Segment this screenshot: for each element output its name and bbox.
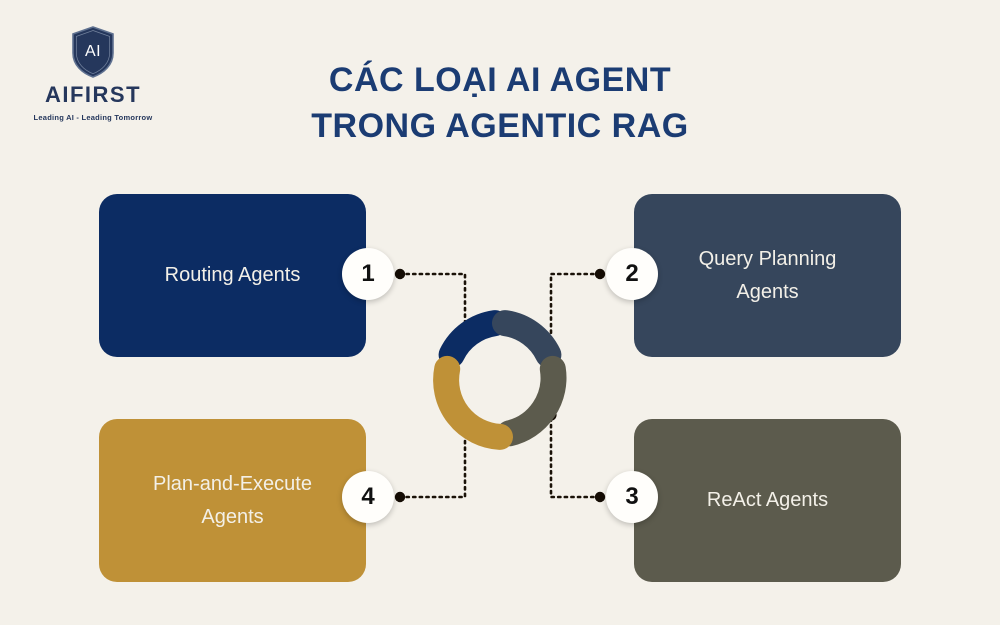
card-routing-agents[interactable]: Routing Agents [99,194,366,357]
donut-diagram [425,305,575,455]
logo-wordmark: AIFIRST [45,82,141,108]
card-plan-and-execute-agents-label: Plan-and-Execute Agents [145,468,320,534]
badge-number-3[interactable]: 3 [606,471,658,523]
connector-dot-badge-1 [395,269,405,279]
badge-number-2[interactable]: 2 [606,248,658,300]
badge-number-1[interactable]: 1 [342,248,394,300]
donut-segment-query-planning [505,323,548,355]
badge-number-1-label: 1 [361,260,374,288]
card-react-agents[interactable]: ReAct Agents [634,419,901,582]
card-query-planning-agents[interactable]: Query Planning Agents [634,194,901,357]
card-react-agents-label: ReAct Agents [707,484,828,517]
logo-tagline: Leading AI - Leading Tomorrow [34,113,153,122]
shield-ai-icon: AI [71,26,115,78]
page-title-line-1: CÁC LOẠI AI AGENT [200,58,800,104]
card-routing-agents-label: Routing Agents [165,259,301,292]
brand-logo: AI AIFIRST Leading AI - Leading Tomorrow [18,26,168,138]
donut-segment-plan-execute [446,369,500,437]
page-title: CÁC LOẠI AI AGENT TRONG AGENTIC RAG [200,58,800,150]
badge-number-4-label: 4 [361,483,374,511]
card-query-planning-agents-label: Query Planning Agents [680,243,855,309]
card-plan-and-execute-agents[interactable]: Plan-and-Execute Agents [99,419,366,582]
donut-segment-routing [452,323,495,355]
donut-segment-react [509,369,553,433]
badge-number-2-label: 2 [625,260,638,288]
connector-dot-badge-2 [595,269,605,279]
page-title-line-2: TRONG AGENTIC RAG [200,104,800,150]
svg-text:AI: AI [85,43,101,60]
badge-number-3-label: 3 [625,483,638,511]
connector-dot-badge-3 [595,492,605,502]
badge-number-4[interactable]: 4 [342,471,394,523]
connector-dot-badge-4 [395,492,405,502]
